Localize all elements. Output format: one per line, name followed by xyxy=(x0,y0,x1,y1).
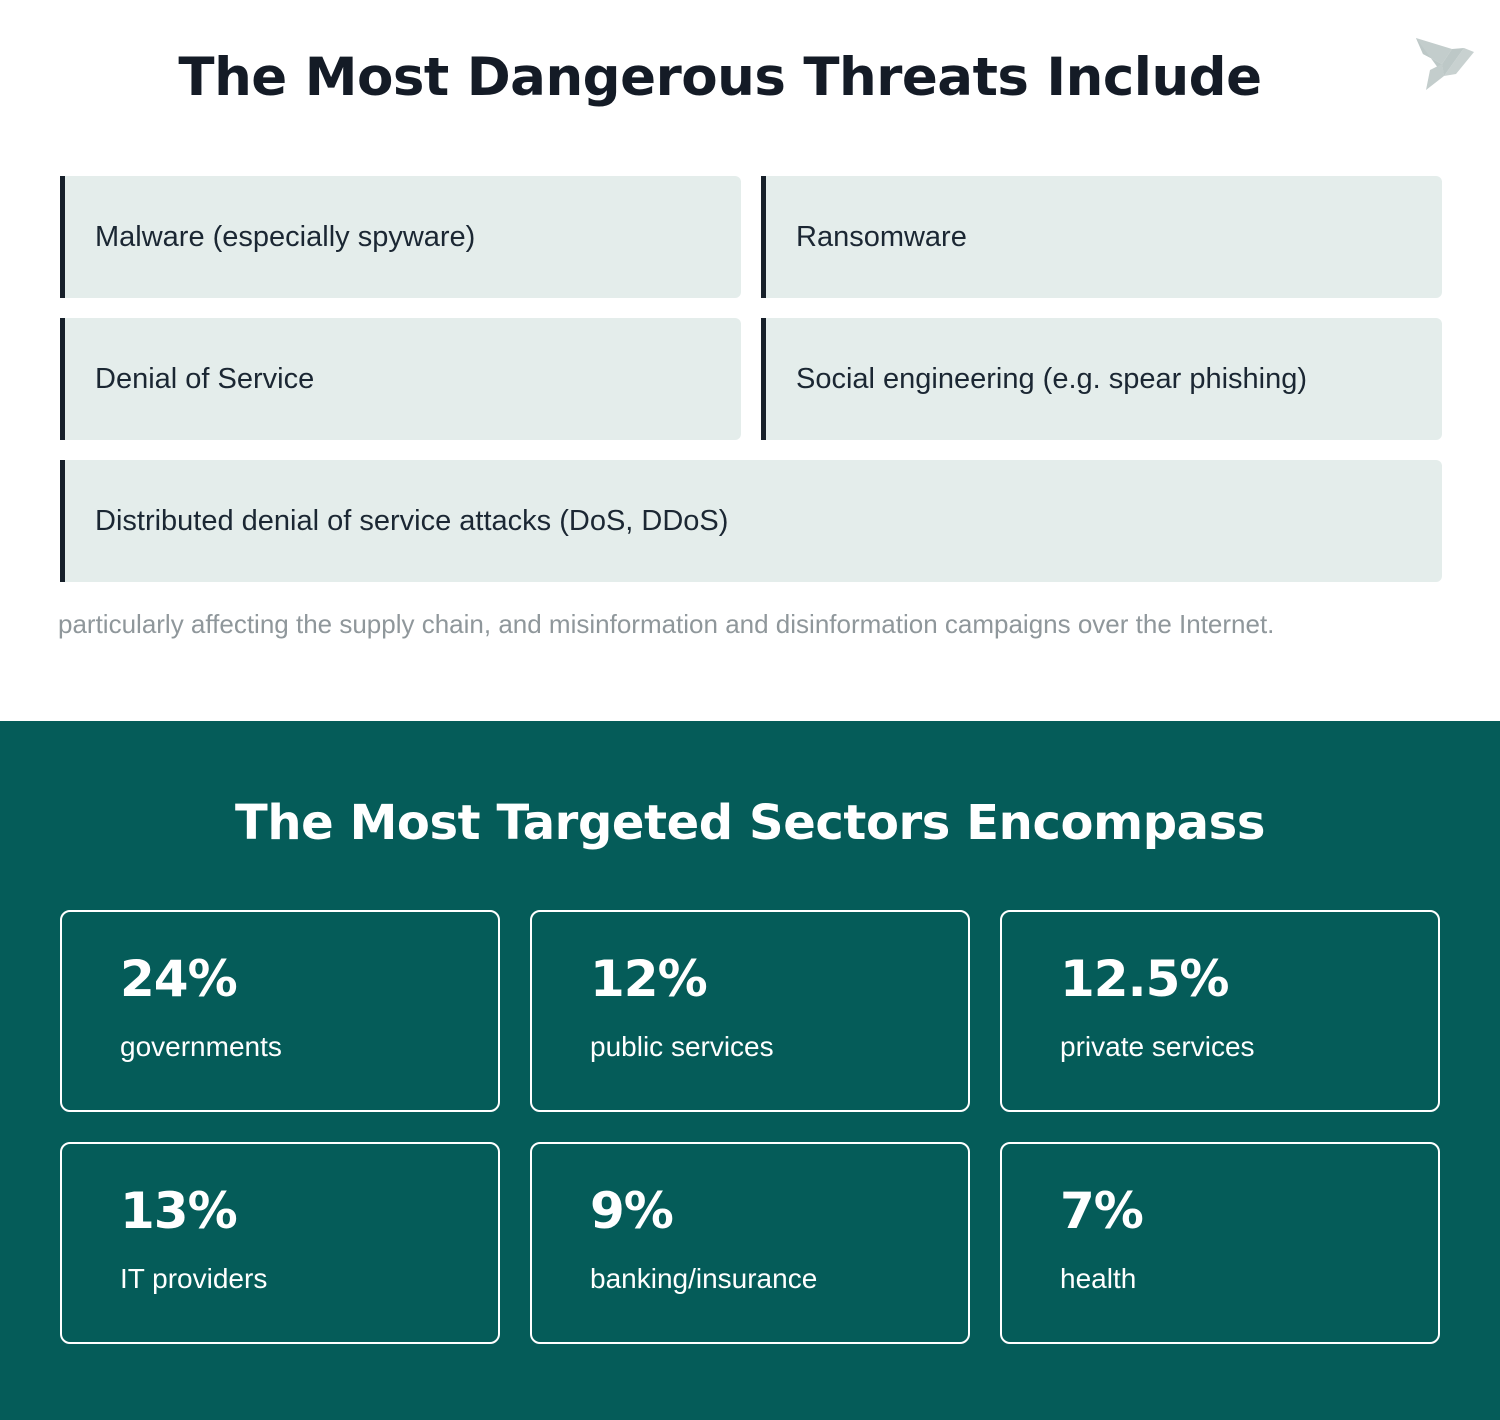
sectors-title: The Most Targeted Sectors Encompass xyxy=(0,796,1500,851)
threat-item-label: Social engineering (e.g. spear phishing) xyxy=(796,362,1307,397)
sector-card-it-providers: 13% IT providers xyxy=(60,1142,500,1344)
threat-item-ddos: Distributed denial of service attacks (D… xyxy=(60,460,1442,582)
sector-card-banking-insurance: 9% banking/insurance xyxy=(530,1142,970,1344)
threat-item-ransomware: Ransomware xyxy=(761,176,1442,298)
threat-item-denial-of-service: Denial of Service xyxy=(60,318,741,440)
sectors-section: The Most Targeted Sectors Encompass 24% … xyxy=(0,721,1500,1420)
threat-item-label: Ransomware xyxy=(796,220,967,255)
threat-list: Malware (especially spyware) Ransomware … xyxy=(60,176,1442,582)
threat-item-social-engineering: Social engineering (e.g. spear phishing) xyxy=(761,318,1442,440)
sector-label: IT providers xyxy=(120,1264,498,1295)
threat-item-label: Malware (especially spyware) xyxy=(95,220,475,255)
sector-card-public-services: 12% public services xyxy=(530,910,970,1112)
sector-label: public services xyxy=(590,1032,968,1063)
threat-item-malware: Malware (especially spyware) xyxy=(60,176,741,298)
sector-stat-grid: 24% governments 12% public services 12.5… xyxy=(60,910,1442,1344)
sector-card-private-services: 12.5% private services xyxy=(1000,910,1440,1112)
sector-value: 7% xyxy=(1060,1186,1438,1236)
sector-value: 24% xyxy=(120,954,498,1004)
sector-value: 12% xyxy=(590,954,968,1004)
threats-section: The Most Dangerous Threats Include Malwa… xyxy=(0,0,1500,721)
page-title: The Most Dangerous Threats Include xyxy=(0,48,1440,109)
threat-item-label: Denial of Service xyxy=(95,362,314,397)
sector-value: 12.5% xyxy=(1060,954,1438,1004)
sector-value: 9% xyxy=(590,1186,968,1236)
sector-label: private services xyxy=(1060,1032,1438,1063)
sector-label: banking/insurance xyxy=(590,1264,968,1295)
sector-value: 13% xyxy=(120,1186,498,1236)
sector-card-governments: 24% governments xyxy=(60,910,500,1112)
sector-label: health xyxy=(1060,1264,1438,1295)
threats-note: particularly affecting the supply chain,… xyxy=(58,604,1442,644)
sector-card-health: 7% health xyxy=(1000,1142,1440,1344)
threat-item-label: Distributed denial of service attacks (D… xyxy=(95,504,728,539)
sector-label: governments xyxy=(120,1032,498,1063)
